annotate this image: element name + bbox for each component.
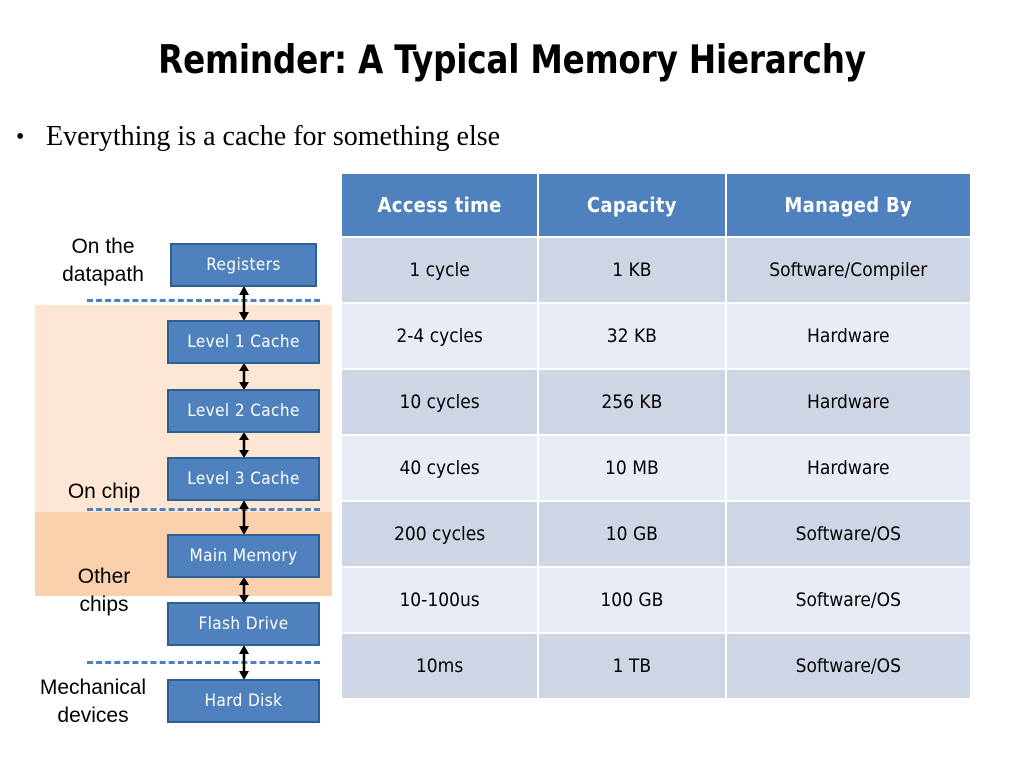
table-row: 10-100us 100 GB Software/OS bbox=[342, 568, 970, 632]
table-header-row: Access time Capacity Managed By bbox=[342, 174, 970, 236]
memory-hierarchy-table: Access time Capacity Managed By 1 cycle … bbox=[340, 172, 972, 700]
cell-managed-by: Software/OS bbox=[727, 502, 970, 566]
memory-hierarchy-diagram: Registers Level 1 Cache Level 2 Cache Le… bbox=[0, 0, 340, 768]
hierarchy-box-level-2-cache[interactable]: Level 2 Cache bbox=[167, 389, 320, 433]
table-row: 1 cycle 1 KB Software/Compiler bbox=[342, 238, 970, 302]
column-header-capacity: Capacity bbox=[539, 174, 724, 236]
cell-capacity: 256 KB bbox=[539, 370, 724, 434]
cell-managed-by: Software/Compiler bbox=[727, 238, 970, 302]
cell-access-time: 10ms bbox=[342, 634, 537, 698]
table-row: 40 cycles 10 MB Hardware bbox=[342, 436, 970, 500]
hierarchy-box-level-1-cache[interactable]: Level 1 Cache bbox=[167, 320, 320, 364]
cell-managed-by: Hardware bbox=[727, 436, 970, 500]
cell-managed-by: Hardware bbox=[727, 370, 970, 434]
table-row: 10ms 1 TB Software/OS bbox=[342, 634, 970, 698]
arrow-l1-l2-icon bbox=[236, 363, 252, 390]
cell-capacity: 1 TB bbox=[539, 634, 724, 698]
table-row: 10 cycles 256 KB Hardware bbox=[342, 370, 970, 434]
cell-capacity: 10 MB bbox=[539, 436, 724, 500]
divider-onchip-otherchips bbox=[87, 508, 320, 511]
region-label-on-chip: On chip bbox=[44, 478, 164, 506]
cell-managed-by: Hardware bbox=[727, 304, 970, 368]
cell-access-time: 40 cycles bbox=[342, 436, 537, 500]
arrow-l3-mainmemory-icon bbox=[236, 500, 252, 535]
arrow-flash-harddisk-icon bbox=[236, 645, 252, 680]
cell-access-time: 200 cycles bbox=[342, 502, 537, 566]
cell-access-time: 1 cycle bbox=[342, 238, 537, 302]
slide-canvas: Reminder: A Typical Memory Hierarchy • E… bbox=[0, 0, 1024, 768]
cell-capacity: 100 GB bbox=[539, 568, 724, 632]
table-row: 200 cycles 10 GB Software/OS bbox=[342, 502, 970, 566]
hierarchy-box-flash-drive[interactable]: Flash Drive bbox=[167, 602, 320, 646]
region-label-on-the-datapath: On the datapath bbox=[38, 233, 168, 289]
divider-datapath-onchip bbox=[87, 299, 320, 302]
region-label-other-chips: Other chips bbox=[44, 563, 164, 619]
hierarchy-box-registers[interactable]: Registers bbox=[170, 243, 317, 287]
cell-capacity: 32 KB bbox=[539, 304, 724, 368]
region-label-mechanical-devices: Mechanical devices bbox=[18, 674, 168, 730]
arrow-l2-l3-icon bbox=[236, 432, 252, 458]
cell-managed-by: Software/OS bbox=[727, 568, 970, 632]
cell-access-time: 10-100us bbox=[342, 568, 537, 632]
cell-access-time: 10 cycles bbox=[342, 370, 537, 434]
hierarchy-box-level-3-cache[interactable]: Level 3 Cache bbox=[167, 457, 320, 501]
cell-capacity: 10 GB bbox=[539, 502, 724, 566]
arrow-registers-l1-icon bbox=[236, 286, 252, 321]
cell-access-time: 2-4 cycles bbox=[342, 304, 537, 368]
hierarchy-box-main-memory[interactable]: Main Memory bbox=[167, 534, 320, 578]
arrow-mainmemory-flash-icon bbox=[236, 577, 252, 603]
table-row: 2-4 cycles 32 KB Hardware bbox=[342, 304, 970, 368]
column-header-access-time: Access time bbox=[342, 174, 537, 236]
cell-capacity: 1 KB bbox=[539, 238, 724, 302]
column-header-managed-by: Managed By bbox=[727, 174, 970, 236]
divider-otherchips-mechanical bbox=[87, 661, 320, 664]
cell-managed-by: Software/OS bbox=[727, 634, 970, 698]
hierarchy-box-hard-disk[interactable]: Hard Disk bbox=[167, 679, 320, 723]
